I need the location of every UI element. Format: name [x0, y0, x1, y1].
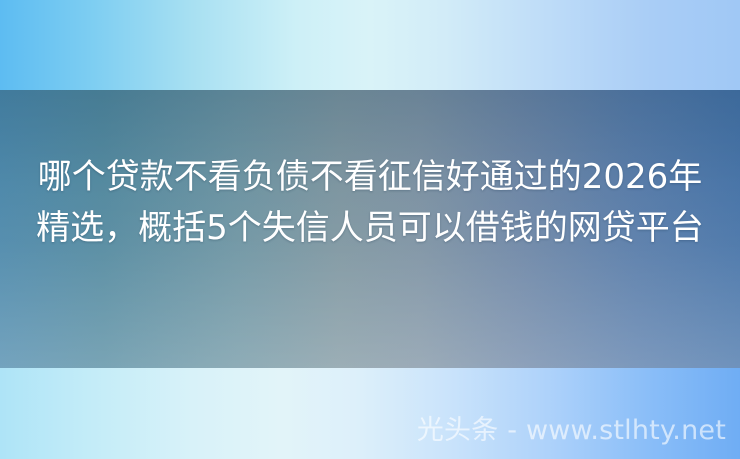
top-gradient-band — [0, 0, 740, 90]
site-watermark: 光头条 - www.stlhty.net — [0, 414, 726, 448]
poster-canvas: 哪个贷款不看负债不看征信好通过的2026年精选，概括5个失信人员可以借钱的网贷平… — [0, 0, 740, 459]
headline-text: 哪个贷款不看负债不看征信好通过的2026年精选，概括5个失信人员可以借钱的网贷平… — [30, 152, 710, 254]
